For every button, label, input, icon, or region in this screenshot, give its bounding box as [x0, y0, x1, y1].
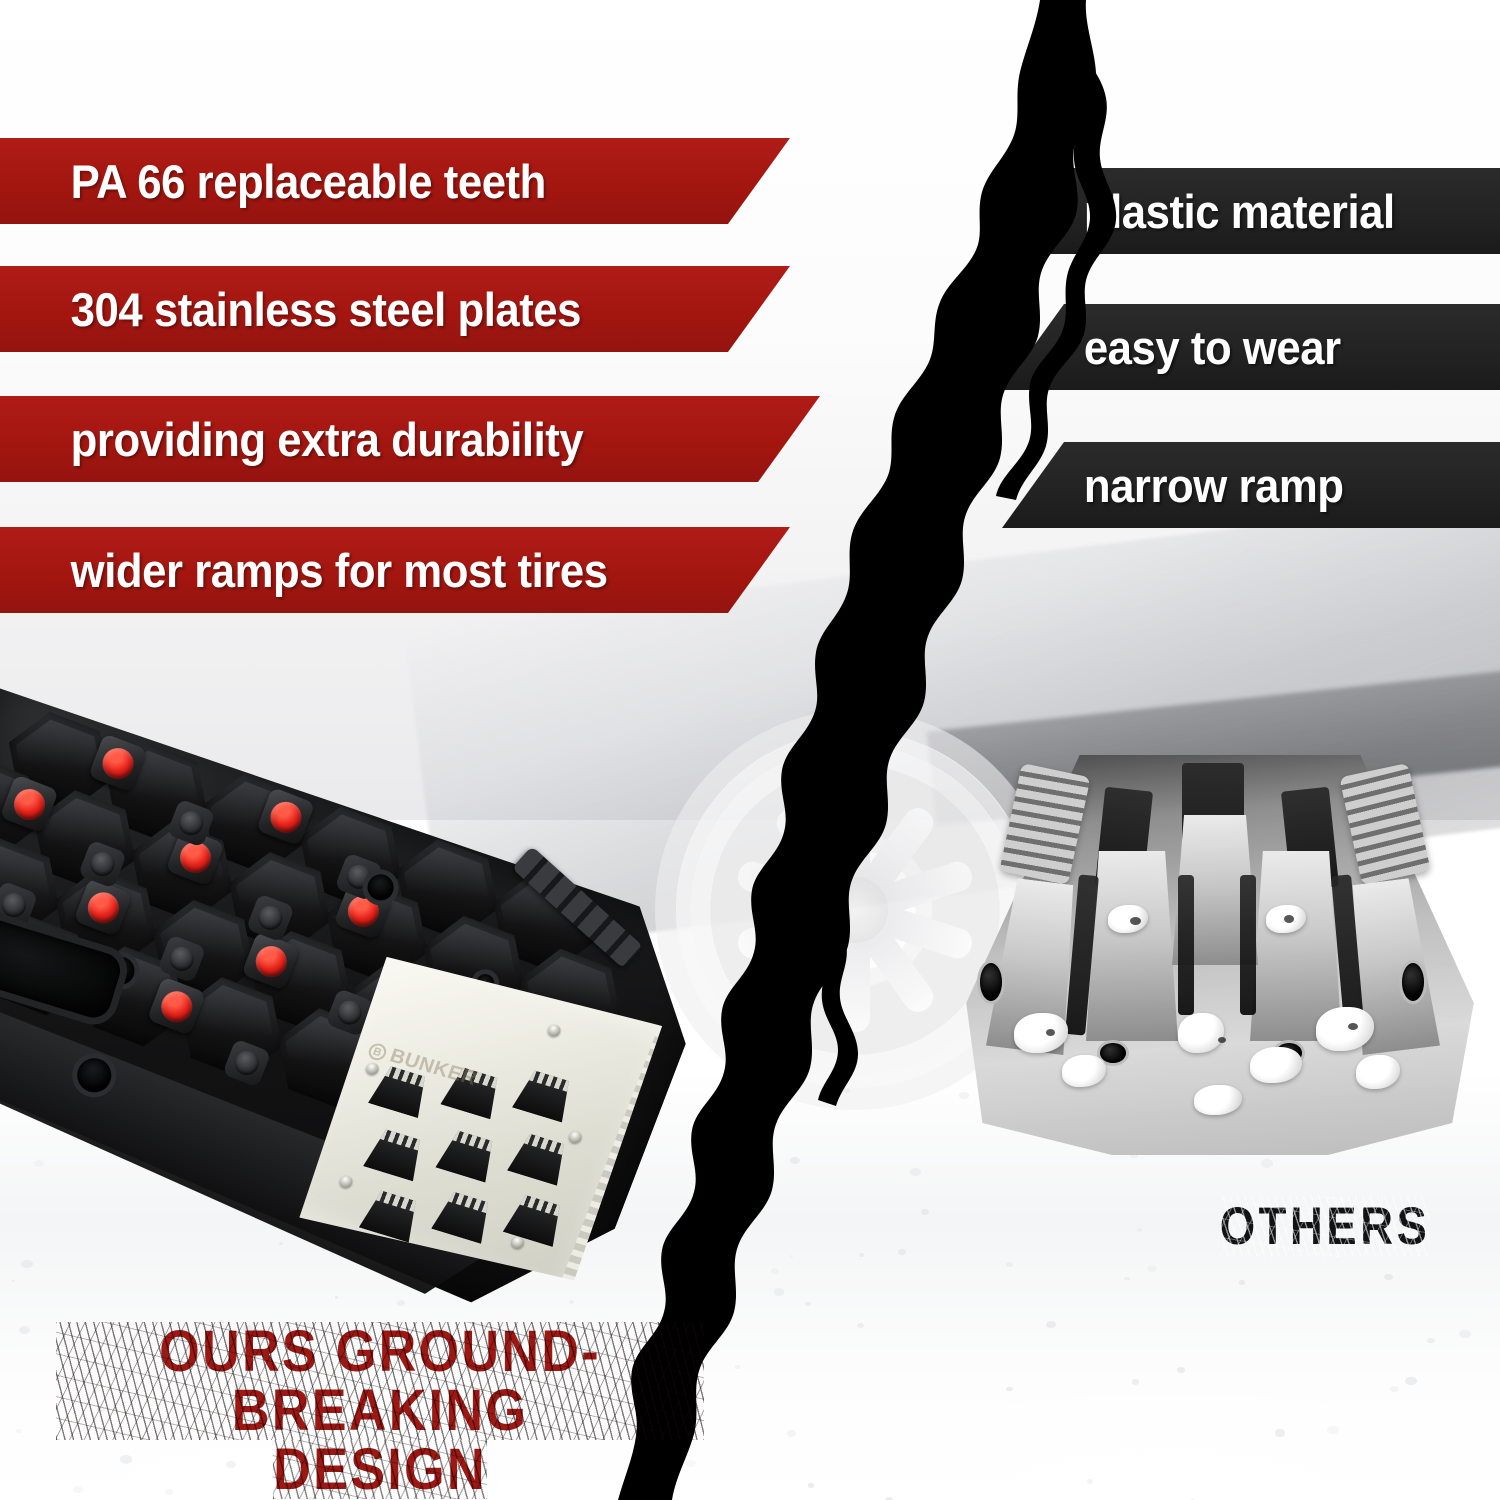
feature-banner-others-2-label: easy to wear — [1002, 320, 1341, 375]
snow-speck — [921, 1209, 929, 1215]
snow-speck — [808, 1483, 814, 1487]
feature-banner-ours-2-label: 304 stainless steel plates — [0, 282, 581, 337]
snow-speck — [790, 1255, 793, 1258]
snow-speck — [771, 1268, 779, 1274]
caption-ours-line1: OURS GROUND-BREAKING — [56, 1322, 704, 1440]
snow-speck — [1137, 1228, 1143, 1232]
snow-speck — [1147, 1265, 1157, 1272]
snow-speck — [1459, 1330, 1471, 1338]
snow-speck — [910, 1168, 921, 1176]
snow-speck — [859, 1253, 863, 1256]
feature-banner-ours-3-label: providing extra durability — [0, 412, 583, 467]
caption-others: OTHERS — [1175, 1196, 1476, 1257]
feature-banner-ours-1: PA 66 replaceable teeth — [0, 138, 790, 224]
snow-speck — [787, 1430, 796, 1436]
snow-speck — [1327, 1426, 1339, 1434]
product-photo-others — [940, 745, 1500, 1165]
snow-speck — [898, 1249, 906, 1254]
board-hole — [1402, 963, 1424, 1001]
feature-banner-others-3-label: narrow ramp — [1002, 458, 1343, 513]
snow-speck — [735, 1365, 740, 1368]
feature-banner-ours-1-label: PA 66 replaceable teeth — [0, 154, 546, 209]
feature-banner-others-1: plastic material — [1002, 168, 1500, 254]
snow-speck — [16, 1429, 22, 1433]
feature-banner-ours-3: providing extra durability — [0, 396, 820, 482]
snow-speck — [1384, 1274, 1393, 1280]
snow-speck — [857, 1323, 864, 1328]
snow-speck — [790, 1157, 800, 1165]
product-photo-ours: B BUNKER — [0, 735, 740, 1335]
board-hole — [980, 963, 1002, 1001]
snow-speck — [774, 1288, 784, 1296]
snow-speck — [805, 1302, 811, 1307]
snow-speck — [1405, 1377, 1416, 1385]
brand-mark-icon: B — [366, 1042, 388, 1063]
feature-banner-ours-4: wider ramps for most tires — [0, 527, 790, 613]
feature-banner-others-1-label: plastic material — [1002, 184, 1395, 239]
board-hole — [1100, 1043, 1126, 1063]
snow-speck — [844, 1088, 850, 1092]
snow-speck — [1390, 1386, 1399, 1392]
snow-speck — [1006, 1387, 1012, 1392]
caption-ours: OURS GROUND-BREAKING DESIGN — [56, 1322, 704, 1499]
snow-speck — [1275, 1429, 1285, 1436]
snow-speck — [821, 1089, 826, 1093]
traction-board-others — [950, 755, 1490, 1155]
snow-speck — [1046, 1321, 1056, 1328]
snow-speck — [1124, 1277, 1129, 1281]
feature-banner-others-2: easy to wear — [1002, 304, 1500, 390]
comparison-infographic: PA 66 replaceable teeth 304 stainless st… — [0, 0, 1500, 1500]
snow-speck — [1006, 1262, 1013, 1267]
traction-board-ours — [0, 664, 726, 1341]
snow-speck — [1427, 1338, 1435, 1344]
caption-ours-line2: DESIGN — [273, 1440, 487, 1499]
snow-speck — [1132, 1379, 1139, 1384]
feature-banner-others-3: narrow ramp — [1002, 442, 1500, 528]
feature-banner-ours-4-label: wider ramps for most tires — [0, 543, 608, 598]
caption-others-label: OTHERS — [1220, 1196, 1431, 1257]
snow-speck — [1177, 1367, 1186, 1373]
snow-speck — [1087, 1479, 1093, 1484]
feature-banner-ours-2: 304 stainless steel plates — [0, 266, 790, 352]
snow-speck — [1239, 1280, 1246, 1285]
